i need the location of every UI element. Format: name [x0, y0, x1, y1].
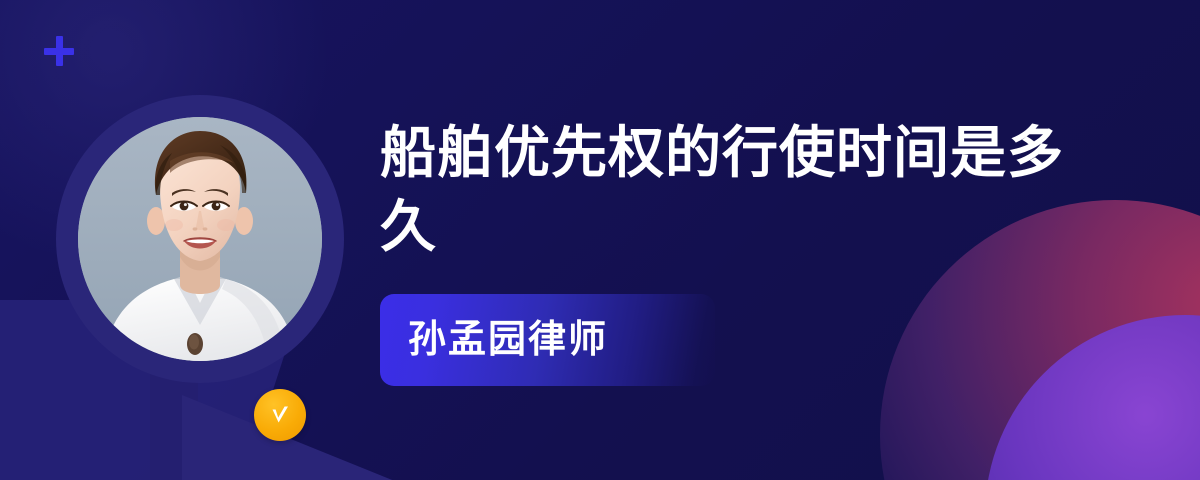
- page-title: 船舶优先权的行使时间是多久: [380, 116, 1080, 264]
- lawyer-name-pill[interactable]: 孙孟园律师: [380, 294, 715, 386]
- avatar: [56, 95, 344, 383]
- content-column: 船舶优先权的行使时间是多久 孙孟园律师: [380, 0, 1180, 480]
- lawyer-name-label: 孙孟园律师: [408, 321, 608, 359]
- plus-icon: [44, 36, 74, 66]
- lawyer-question-banner: 船舶优先权的行使时间是多久 孙孟园律师: [0, 0, 1200, 480]
- verified-check-icon: [254, 389, 306, 441]
- avatar-photo: [78, 117, 322, 361]
